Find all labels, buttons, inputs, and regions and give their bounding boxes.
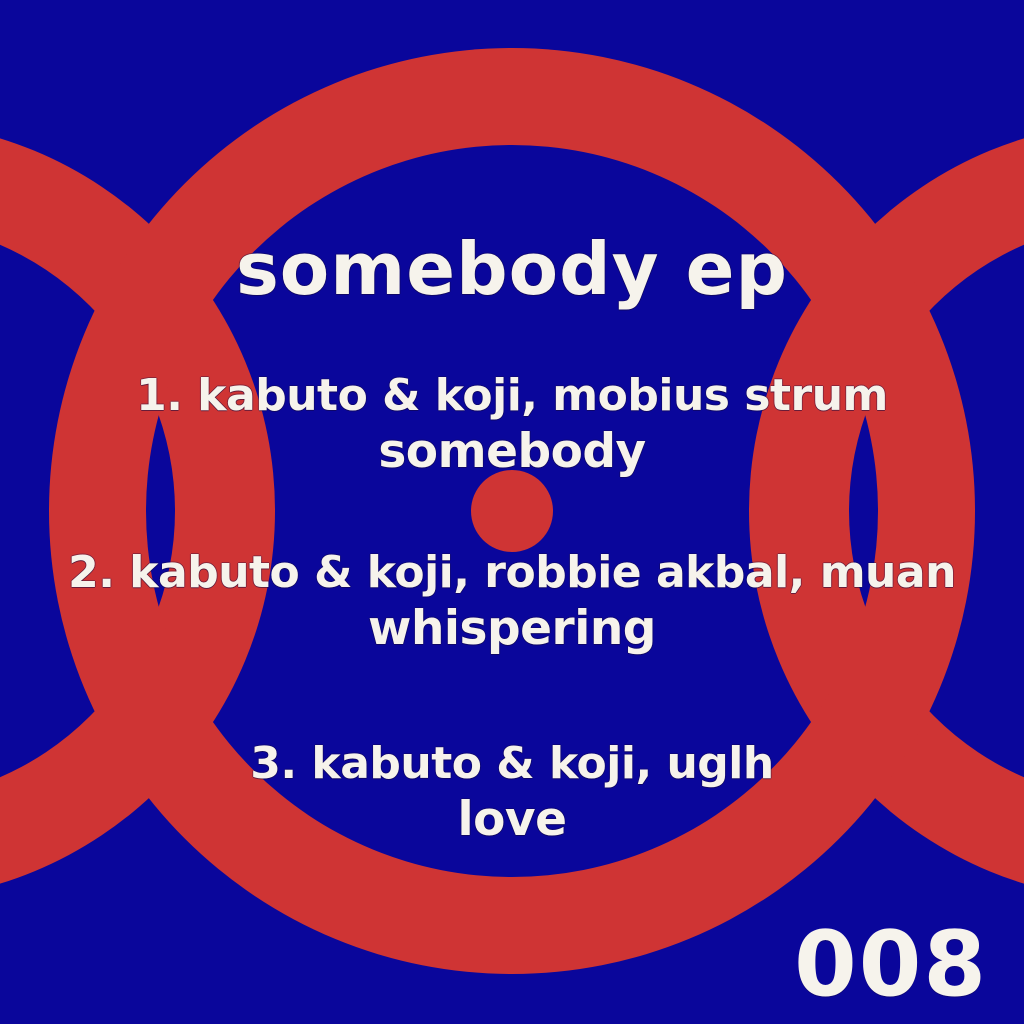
album-cover-artwork: somebody ep 1. kabuto & koji, mobius str… xyxy=(0,0,1024,1024)
track-1-artists: 1. kabuto & koji, mobius strum xyxy=(0,370,1024,421)
track-2-title: whispering xyxy=(0,601,1024,656)
cover-text-layer: somebody ep 1. kabuto & koji, mobius str… xyxy=(0,0,1024,1024)
release-title: somebody ep xyxy=(0,227,1024,311)
track-2-artists: 2. kabuto & koji, robbie akbal, muan xyxy=(0,547,1024,598)
track-3-artists: 3. kabuto & koji, uglh xyxy=(0,738,1024,789)
catalog-number: 008 xyxy=(794,920,988,1010)
track-3-title: love xyxy=(0,792,1024,847)
track-1-title: somebody xyxy=(0,424,1024,479)
